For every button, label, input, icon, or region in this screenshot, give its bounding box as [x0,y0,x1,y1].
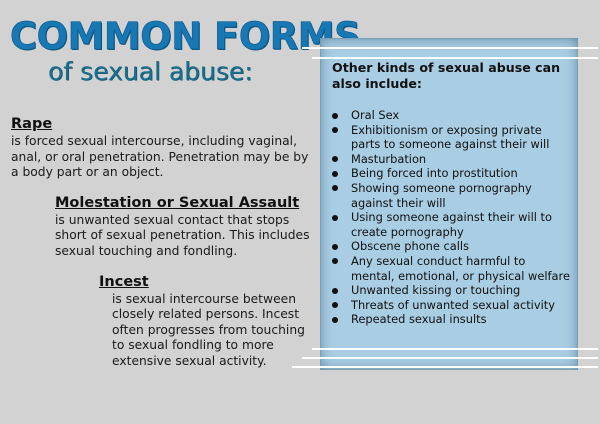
decorative-rule-top-1 [302,47,598,49]
decorative-rule-bottom-2 [302,357,598,359]
bullet-icon [332,127,338,133]
list-item-label: Showing someone pornography against thei… [346,181,572,210]
panel-bullet-list: Oral Sex Exhibitionism or exposing priva… [332,108,572,327]
decorative-rule-top-2 [312,57,598,59]
bullet-icon [332,317,338,323]
list-item-label: Unwanted kissing or touching [346,283,572,298]
definition-term: Rape [11,115,312,134]
bullet-icon [332,302,338,308]
list-item-label: Any sexual conduct harmful to mental, em… [346,254,572,283]
bullet-icon [332,244,338,250]
definition-molestation: Molestation or Sexual Assault is unwante… [0,194,312,260]
list-item-label: Being forced into prostitution [346,166,572,181]
list-item: Oral Sex [332,108,572,123]
list-item: Threats of unwanted sexual activity [332,298,572,313]
list-item: Obscene phone calls [332,239,572,254]
list-item-label: Threats of unwanted sexual activity [346,298,572,313]
list-item-label: Masturbation [346,152,572,167]
list-item-label: Repeated sexual insults [346,312,572,327]
list-item: Masturbation [332,152,572,167]
list-item: Showing someone pornography against thei… [332,181,572,210]
list-item-label: Oral Sex [346,108,572,123]
list-item: Exhibitionism or exposing private parts … [332,123,572,152]
panel-content: Other kinds of sexual abuse can also inc… [332,60,572,327]
definition-term: Incest [99,273,312,292]
definition-incest: Incest is sexual intercourse between clo… [0,273,312,370]
definition-body: is sexual intercourse between closely re… [99,292,312,370]
list-item: Using someone against their will to crea… [332,210,572,239]
page-title: COMMON FORMS [0,18,320,56]
list-item: Repeated sexual insults [332,312,572,327]
definition-body: is unwanted sexual contact that stops sh… [55,213,312,260]
list-item: Any sexual conduct harmful to mental, em… [332,254,572,283]
infographic-poster: COMMON FORMS of sexual abuse: Rape is fo… [0,0,600,424]
list-item-label: Using someone against their will to crea… [346,210,572,239]
title-block: COMMON FORMS of sexual abuse: [0,18,320,87]
bullet-icon [332,171,338,177]
page-subtitle: of sexual abuse: [0,57,320,87]
panel-heading: Other kinds of sexual abuse can also inc… [332,60,564,92]
list-item: Being forced into prostitution [332,166,572,181]
decorative-rule-bottom-3 [292,366,598,368]
definition-term: Molestation or Sexual Assault [55,194,312,213]
definition-body: is forced sexual intercourse, including … [11,134,312,181]
bullet-icon [332,215,338,221]
bullet-icon [332,185,338,191]
definitions-list: Rape is forced sexual intercourse, inclu… [0,115,312,381]
bullet-icon [332,113,338,119]
bullet-icon [332,258,338,264]
list-item-label: Exhibitionism or exposing private parts … [346,123,572,152]
bullet-icon [332,288,338,294]
list-item-label: Obscene phone calls [346,239,572,254]
bullet-icon [332,156,338,162]
list-item: Unwanted kissing or touching [332,283,572,298]
other-kinds-panel: Other kinds of sexual abuse can also inc… [320,38,578,370]
definition-rape: Rape is forced sexual intercourse, inclu… [0,115,312,181]
decorative-rule-bottom-1 [312,348,598,350]
